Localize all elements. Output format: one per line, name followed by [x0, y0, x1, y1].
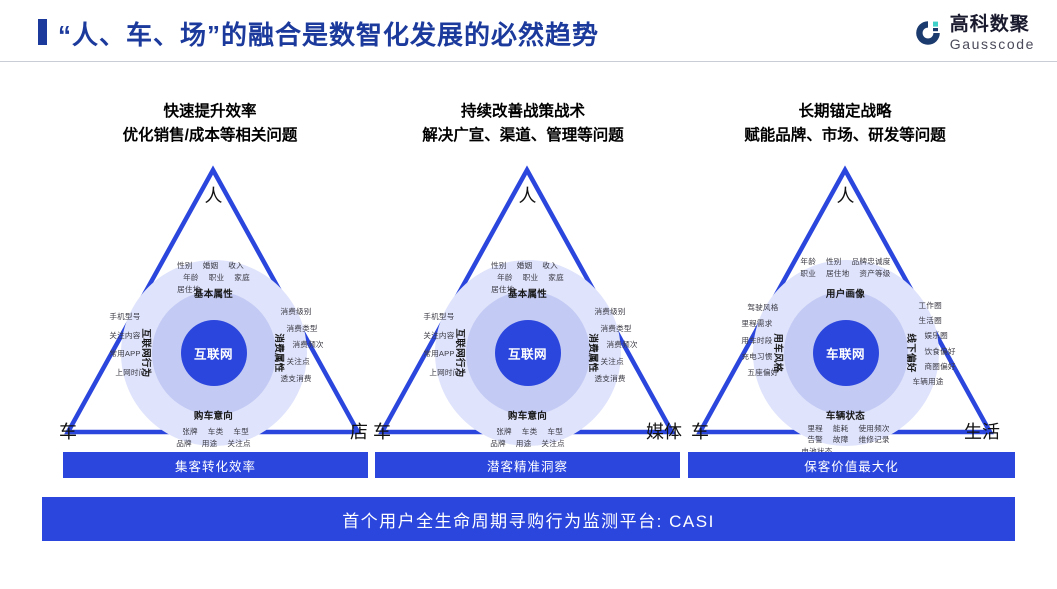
platform-banner: 首个用户全生命周期寻购行为监测平台: CASI — [42, 497, 1015, 541]
triangle-3-apex-label: 人 — [837, 182, 855, 208]
column-heading-3-line2: 赋能品牌、市场、研发等问题 — [690, 124, 1000, 148]
outcome-bar-2: 潜客精准洞察 — [375, 452, 680, 478]
attrs-top-2: 性别婚姻收入 年龄职业家庭 居住地 — [491, 260, 564, 295]
triangle-2-left-label: 车 — [373, 418, 391, 444]
core-label-3: 车联网 — [826, 344, 865, 363]
column-heading-1-line1: 快速提升效率 — [60, 100, 360, 124]
ring-label-top-3: 用户画像 — [826, 286, 865, 300]
attrs-right-2: 消费级别 消费类型 消费频次 关注点 透支消费 — [595, 304, 638, 388]
triangle-1-right-label: 店 — [350, 418, 368, 444]
attrs-right-3: 工作圈 生活圈 娱乐圈 饮食偏好 商圈偏好 车辆用途 — [913, 298, 956, 389]
core-label-1: 互联网 — [194, 344, 233, 363]
attrs-right-1: 消费级别 消费类型 消费频次 关注点 透支消费 — [281, 304, 324, 388]
page-header: “人、车、场”的融合是数智化发展的必然趋势 高科数聚 Gausscode — [0, 0, 1057, 62]
triangle-2-right-label: 媒体 — [646, 418, 682, 444]
outcome-bar-1: 集客转化效率 — [63, 452, 368, 478]
gausscode-logo-icon — [913, 18, 943, 48]
outcome-bar-3: 保客价值最大化 — [688, 452, 1015, 478]
concentric-rings-1: 互联网 互联网 基本属性 购车意向 互联网行为 消费属性 性别婚姻收入 年龄职业… — [121, 260, 307, 446]
attrs-top-1: 性别婚姻收入 年龄职业家庭 居住地 — [177, 260, 250, 295]
column-heading-2-line1: 持续改善战策战术 — [373, 100, 673, 124]
logo-text-en: Gausscode — [950, 37, 1035, 51]
concentric-rings-2: 互联网 互联网 基本属性 购车意向 互联网行为 消费属性 性别婚姻收入 年龄职业… — [435, 260, 621, 446]
triangle-3-left-label: 车 — [691, 418, 709, 444]
triangle-2-apex-label: 人 — [519, 182, 537, 208]
attrs-bottom-1: 张牌车类车型 品牌用途关注点 — [176, 426, 251, 450]
column-heading-3-line1: 长期锚定战略 — [690, 100, 1000, 124]
diagram-panel-1: 人 车 店 互联网 互联网 基本属性 购车意向 互联网行为 消费属性 性别婚姻收… — [58, 160, 369, 446]
ring-label-bottom-3: 车辆状态 — [826, 408, 865, 422]
header-divider — [0, 61, 1057, 62]
attrs-top-3: 年龄性别品牌忠诚度 职业居住地资产等级 — [800, 256, 890, 280]
title-accent-bar — [38, 19, 47, 45]
brand-logo: 高科数聚 Gausscode — [913, 13, 1035, 53]
triangle-3-right-label: 生活 — [964, 418, 1000, 444]
diagram-panel-2: 人 车 媒体 互联网 互联网 基本属性 购车意向 互联网行为 消费属性 性别婚姻… — [372, 160, 683, 446]
ring-label-bottom-2: 购车意向 — [508, 408, 547, 422]
core-label-2: 互联网 — [508, 344, 547, 363]
triangle-1-left-label: 车 — [59, 418, 77, 444]
ring-label-bottom-1: 购车意向 — [194, 408, 233, 422]
diagram-panel-3: 人 车 生活 车联网 车联网 用户画像 车辆状态 用车风格 线下偏好 年龄性别品… — [690, 160, 1001, 446]
column-heading-1: 快速提升效率 优化销售/成本等相关问题 — [60, 100, 360, 148]
page-title: “人、车、场”的融合是数智化发展的必然趋势 — [58, 15, 599, 52]
concentric-rings-3: 车联网 车联网 用户画像 车辆状态 用车风格 线下偏好 年龄性别品牌忠诚度 职业… — [753, 260, 939, 446]
logo-text-cn: 高科数聚 — [950, 15, 1035, 34]
attrs-bottom-2: 张牌车类车型 品牌用途关注点 — [490, 426, 565, 450]
triangle-1-apex-label: 人 — [205, 182, 223, 208]
attrs-left-3: 驾驶风格 里程需求 用车时段 充电习惯 五座偏好 — [741, 300, 778, 382]
column-heading-3: 长期锚定战略 赋能品牌、市场、研发等问题 — [690, 100, 1000, 148]
attrs-left-2: 手机型号 关注内容 常用APP 上网时间 — [423, 308, 460, 382]
attrs-left-1: 手机型号 关注内容 常用APP 上网时间 — [109, 308, 146, 382]
column-heading-2-line2: 解决广宣、渠道、管理等问题 — [373, 124, 673, 148]
column-heading-2: 持续改善战策战术 解决广宣、渠道、管理等问题 — [373, 100, 673, 148]
column-heading-1-line2: 优化销售/成本等相关问题 — [60, 124, 360, 148]
